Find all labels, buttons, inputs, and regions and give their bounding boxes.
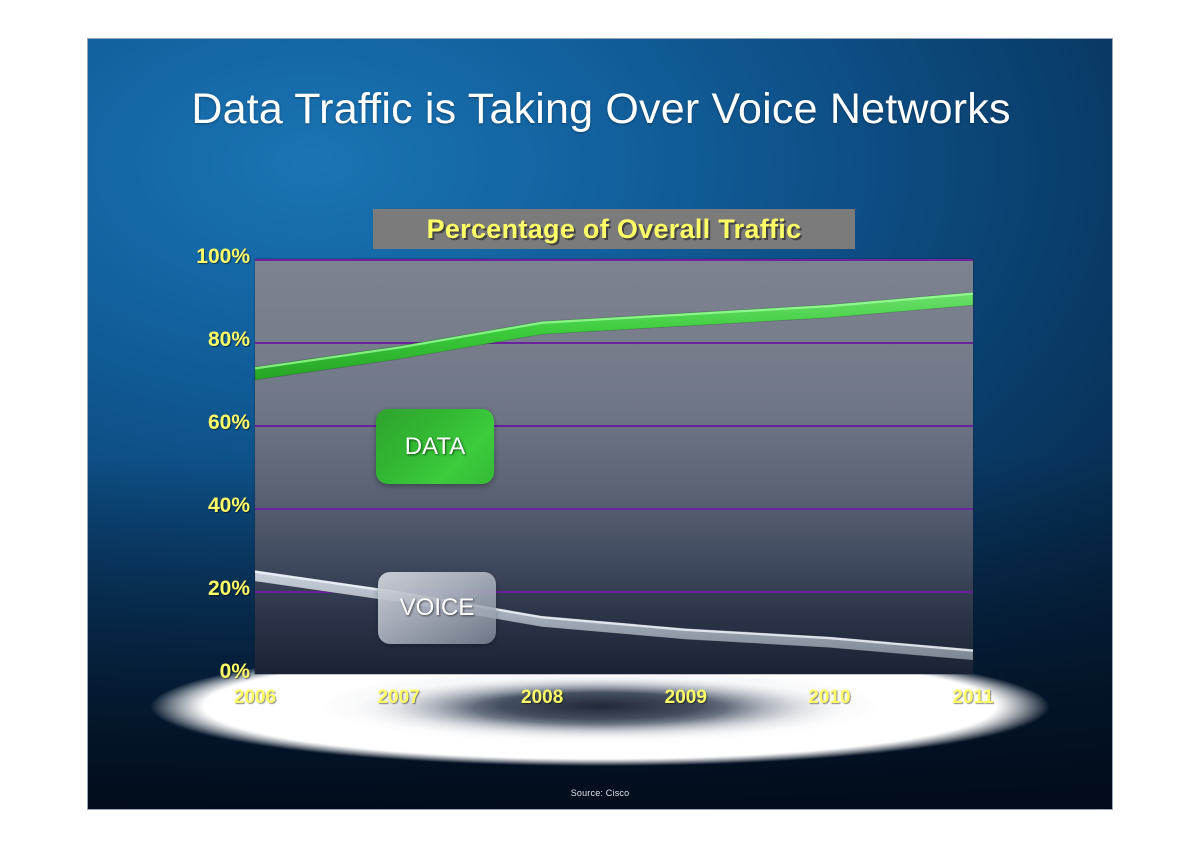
presentation-slide: Data Traffic is Taking Over Voice Networ… — [87, 38, 1113, 810]
y-axis-tick-label: 20% — [164, 577, 250, 601]
slide-page: Data Traffic is Taking Over Voice Networ… — [0, 0, 1200, 848]
x-axis-tick-label: 2007 — [354, 687, 444, 709]
series-band-data — [255, 292, 973, 380]
series-label-data-text: DATA — [405, 433, 465, 461]
page-title: Data Traffic is Taking Over Voice Networ… — [116, 85, 1086, 134]
x-axis-tick-label: 2009 — [641, 687, 731, 709]
y-axis-tick-label: 100% — [164, 245, 250, 269]
source-note: Source: Cisco — [88, 788, 1112, 798]
x-axis-tick-label: 2011 — [928, 687, 1018, 709]
y-axis-tick-label: 60% — [164, 411, 250, 435]
series-highlight-voice — [255, 572, 973, 651]
chart-y-axis: 0%20%40%60%80%100% — [160, 259, 250, 674]
series-band-voice — [255, 570, 973, 660]
chart-series-layer — [255, 259, 973, 674]
x-axis-tick-label: 2010 — [784, 687, 874, 709]
y-axis-tick-label: 80% — [164, 328, 250, 352]
chart-series-paths — [255, 292, 973, 660]
x-axis-tick-label: 2008 — [497, 687, 587, 709]
y-axis-tick-label: 40% — [164, 494, 250, 518]
series-label-voice: VOICE — [378, 572, 496, 644]
series-label-voice-text: VOICE — [400, 594, 475, 622]
x-axis-tick-label: 2006 — [210, 687, 300, 709]
chart-x-axis: 200620072008200920102011 — [255, 687, 973, 717]
chart-title: Percentage of Overall Traffic — [427, 214, 802, 245]
y-axis-tick-label: 0% — [164, 660, 250, 684]
series-label-data: DATA — [376, 409, 494, 484]
chart-title-banner: Percentage of Overall Traffic — [373, 209, 855, 249]
